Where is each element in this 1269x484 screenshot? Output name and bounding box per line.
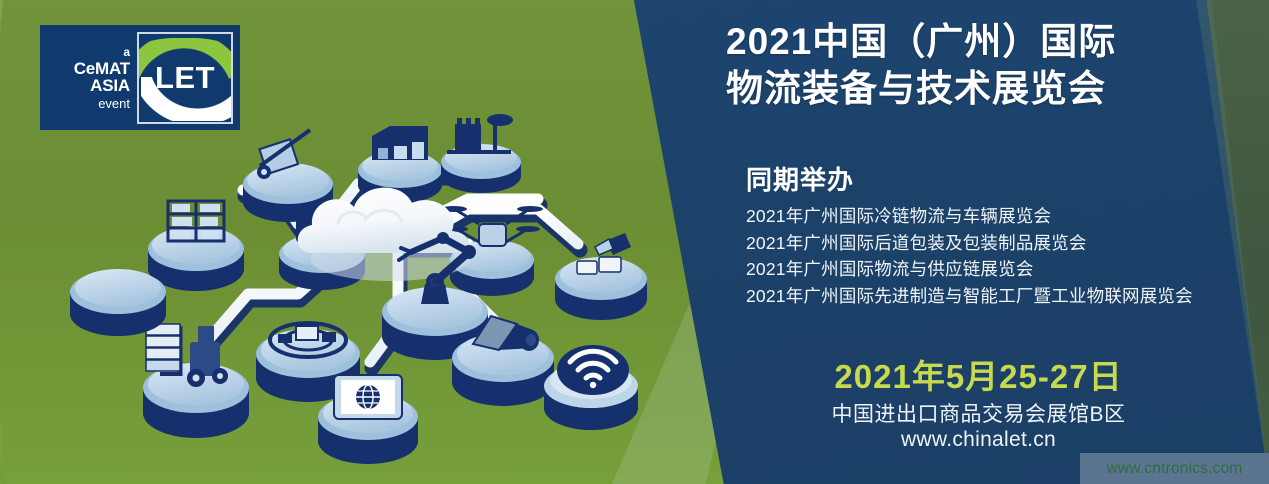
logo-line-event: event (40, 97, 130, 110)
logo-line-cemat-asia: CeMAT ASIA (40, 60, 130, 94)
pallet-rack-node (148, 201, 244, 291)
tablet-globe-icon (334, 375, 402, 419)
pallet-rack-icon (168, 201, 224, 241)
concurrent-event-item: 2021年广州国际物流与供应链展览会 (746, 256, 1193, 283)
cemat-asia-let-logo: a CeMAT ASIA event LET (40, 25, 240, 130)
crane-tower-node (441, 114, 521, 193)
forklift-node (143, 324, 249, 438)
title-line-2: 物流装备与技术展览会 (726, 65, 1116, 112)
crane-tower-icon (447, 114, 513, 152)
pallet-stack (146, 324, 180, 371)
tablet-node (318, 375, 418, 464)
let-text: LET (139, 60, 231, 96)
wifi-node (544, 345, 638, 430)
title-line-1: 2021中国（广州）国际 (726, 18, 1116, 65)
source-watermark: www.cntronics.com (1080, 453, 1269, 484)
concurrent-events-list: 2021年广州国际冷链物流与车辆展览会 2021年广州国际后道包装及包装制品展览… (746, 203, 1193, 309)
concurrent-heading: 同期举办 (746, 160, 854, 197)
concurrent-event-item: 2021年广州国际先进制造与智能工厂暨工业物联网展览会 (746, 283, 1193, 310)
event-website-url[interactable]: www.chinalet.cn (718, 428, 1239, 452)
logo-line-a: a (40, 46, 130, 58)
concurrent-event-item: 2021年广州国际后道包装及包装制品展览会 (746, 230, 1193, 257)
event-title: 2021中国（广州）国际 物流装备与技术展览会 (726, 18, 1116, 113)
agv-node (70, 269, 166, 336)
warehouse-building-icon (372, 126, 428, 160)
logo-wordmark: a CeMAT ASIA event (40, 46, 137, 110)
text-panel: 2021中国（广州）国际 物流装备与技术展览会 同期举办 2021年广州国际冷链… (718, 0, 1269, 484)
globe-icon (356, 385, 380, 409)
event-banner: a CeMAT ASIA event LET 2021中国（广州）国际 物流装备… (0, 0, 1269, 484)
concurrent-event-item: 2021年广州国际冷链物流与车辆展览会 (746, 203, 1193, 230)
event-date: 2021年5月25-27日 (718, 350, 1239, 398)
let-mark: LET (137, 32, 233, 124)
watermark-text: www.cntronics.com (1106, 460, 1242, 478)
event-venue: 中国进出口商品交易会展馆B区 (718, 398, 1239, 428)
